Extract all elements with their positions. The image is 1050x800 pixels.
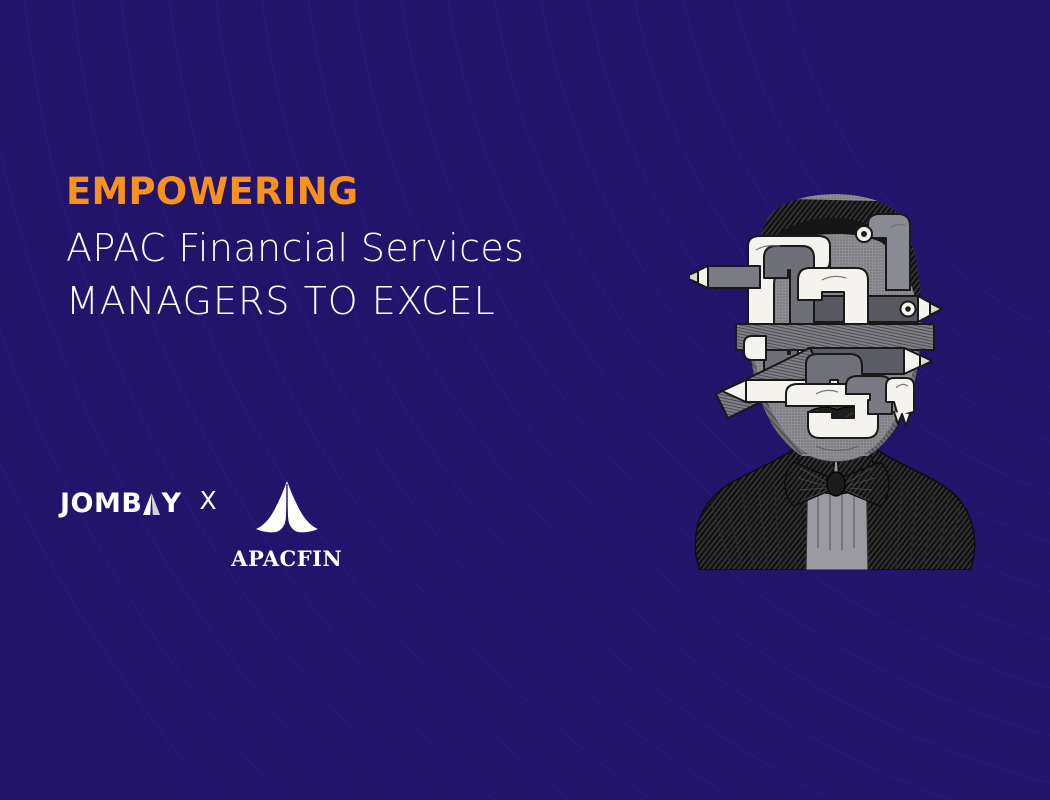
apacfin-logo[interactable]: APACFIN bbox=[241, 480, 333, 569]
apacfin-wordmark: APACFIN bbox=[231, 548, 342, 569]
hero-illustration bbox=[690, 188, 980, 570]
promo-banner: EMPOWERING APAC Financial Services MANAG… bbox=[0, 0, 1050, 800]
headline-line-2: MANAGERS TO EXCEL bbox=[66, 276, 626, 327]
jombay-logo[interactable]: JOMB Y bbox=[60, 488, 182, 518]
logo-lockup: JOMB Y X APACFIN bbox=[60, 480, 333, 569]
logo-separator-x: X bbox=[200, 488, 217, 513]
jombay-wordmark-part-1: JOMB bbox=[60, 490, 142, 517]
apacfin-flame-icon bbox=[247, 480, 327, 547]
headline-block: EMPOWERING APAC Financial Services MANAG… bbox=[66, 172, 626, 328]
jombay-wordmark-part-2: Y bbox=[161, 490, 181, 517]
jombay-triangle-icon bbox=[143, 493, 160, 515]
headline-eyebrow: EMPOWERING bbox=[66, 172, 626, 212]
headline-line-1: APAC Financial Services bbox=[66, 223, 626, 274]
